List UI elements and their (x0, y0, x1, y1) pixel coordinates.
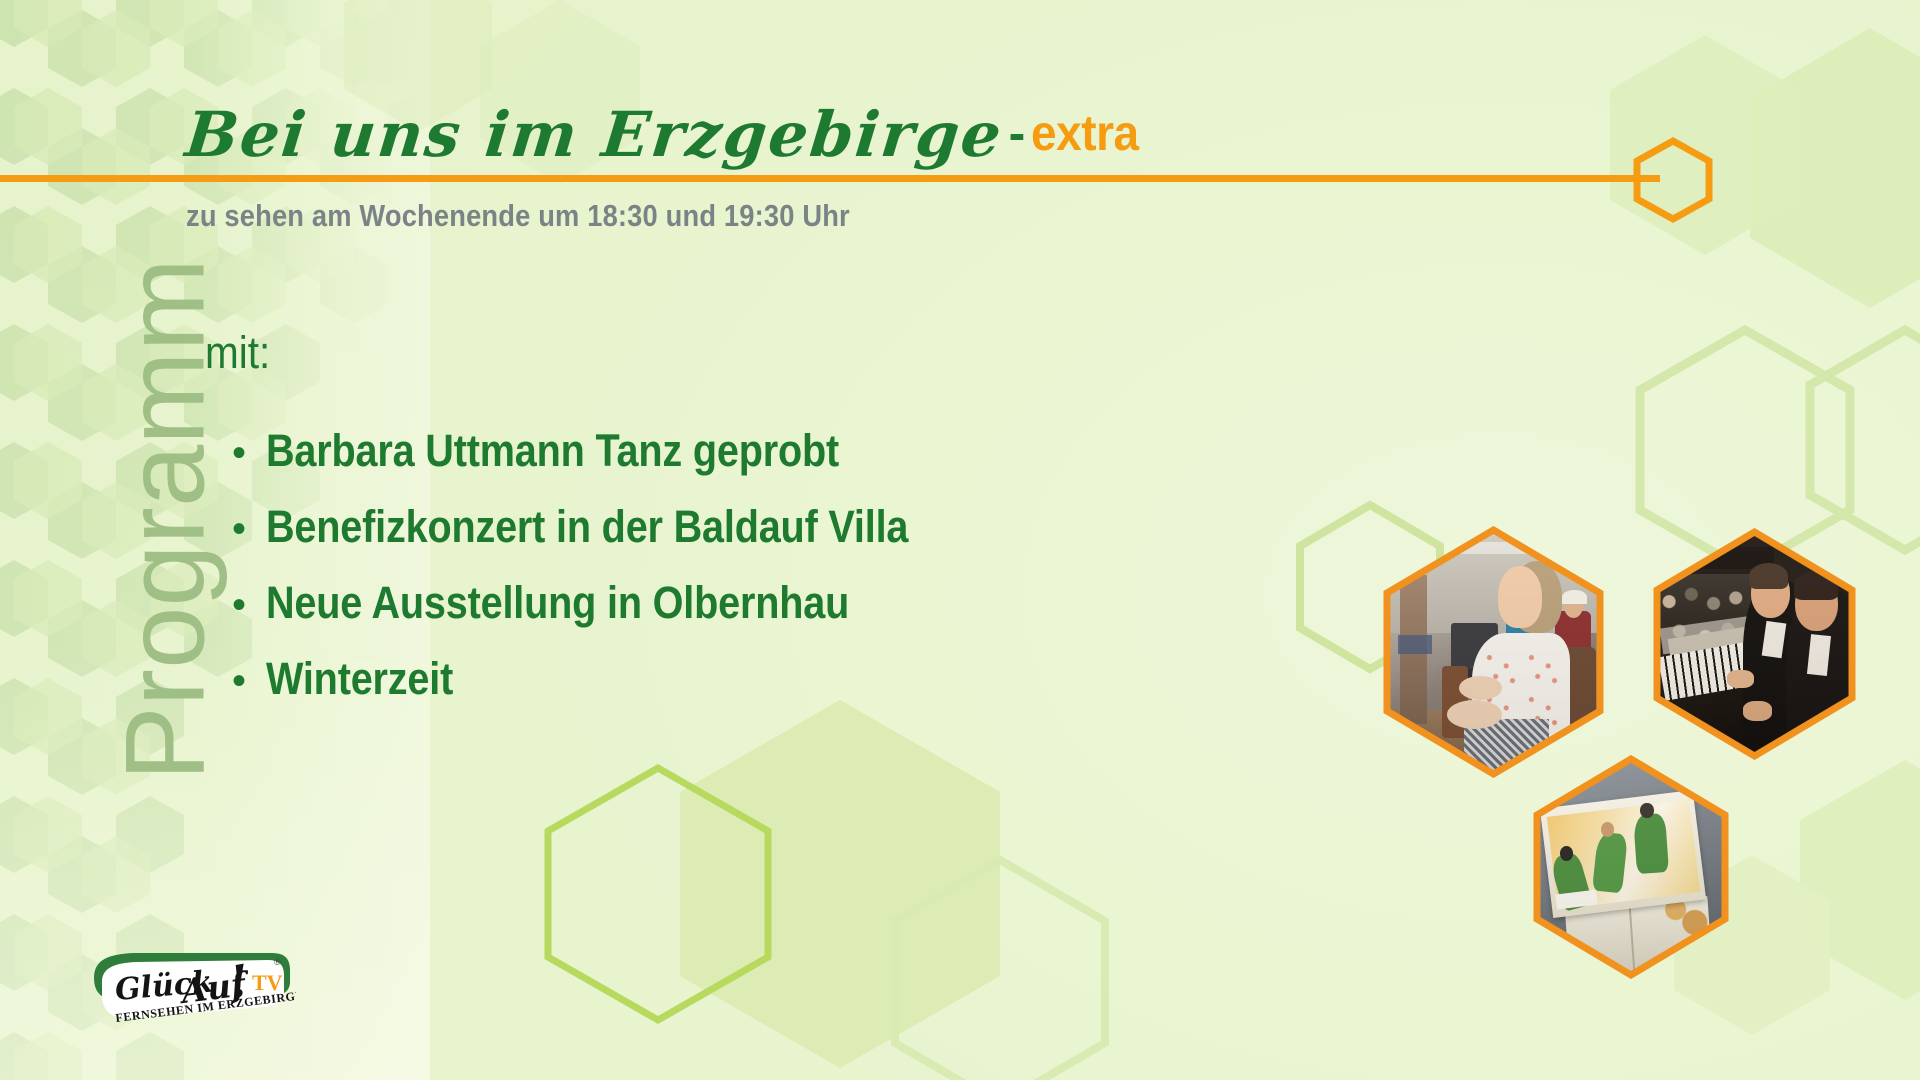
page-title-script: Bei uns im Erzgebirge (183, 104, 1006, 166)
list-item-label: Winterzeit (266, 653, 453, 705)
list-item-label: Benefizkonzert in der Baldauf Villa (266, 501, 908, 553)
list-item: • Barbara Uttmann Tanz geprobt (232, 425, 996, 477)
bullet-icon: • (232, 433, 266, 473)
page-title: Bei uns im Erzgebirge-extra (186, 104, 1148, 166)
list-item-label: Neue Ausstellung in Olbernhau (266, 577, 849, 629)
photo-content (1537, 761, 1725, 973)
list-item: • Winterzeit (232, 653, 996, 705)
page-title-extra: extra (1031, 108, 1139, 158)
sidebar-vertical-label: Programm (101, 200, 230, 840)
photo-content (1387, 532, 1600, 772)
photo-woman-at-rehearsal (1387, 532, 1600, 772)
bullet-icon: • (232, 509, 266, 549)
photo-pianists-concert (1657, 534, 1852, 754)
slide-canvas: Bei uns im Erzgebirge-extra zu sehen am … (0, 0, 1920, 1080)
page-title-dash: - (1003, 108, 1032, 158)
intro-label: mit: (205, 327, 270, 379)
broadcast-times-subtitle: zu sehen am Wochenende um 18:30 und 19:3… (186, 198, 850, 234)
list-item-label: Barbara Uttmann Tanz geprobt (266, 425, 839, 477)
list-item: • Neue Ausstellung in Olbernhau (232, 577, 996, 629)
header-rule (0, 175, 1660, 182)
bullet-icon: • (232, 585, 266, 625)
photo-content (1657, 534, 1852, 754)
glueckauf-tv-logo: Glück Auf ! TV ® FERNSEHEN IM ERZGEBIRGE (86, 948, 296, 1040)
program-list: • Barbara Uttmann Tanz geprobt • Benefiz… (232, 425, 996, 729)
photo-exhibition-watercolors (1537, 761, 1725, 973)
header-rule-hexagon-icon (1630, 137, 1716, 223)
logo-registered-icon: ® (274, 957, 281, 967)
bullet-icon: • (232, 661, 266, 701)
list-item: • Benefizkonzert in der Baldauf Villa (232, 501, 996, 553)
